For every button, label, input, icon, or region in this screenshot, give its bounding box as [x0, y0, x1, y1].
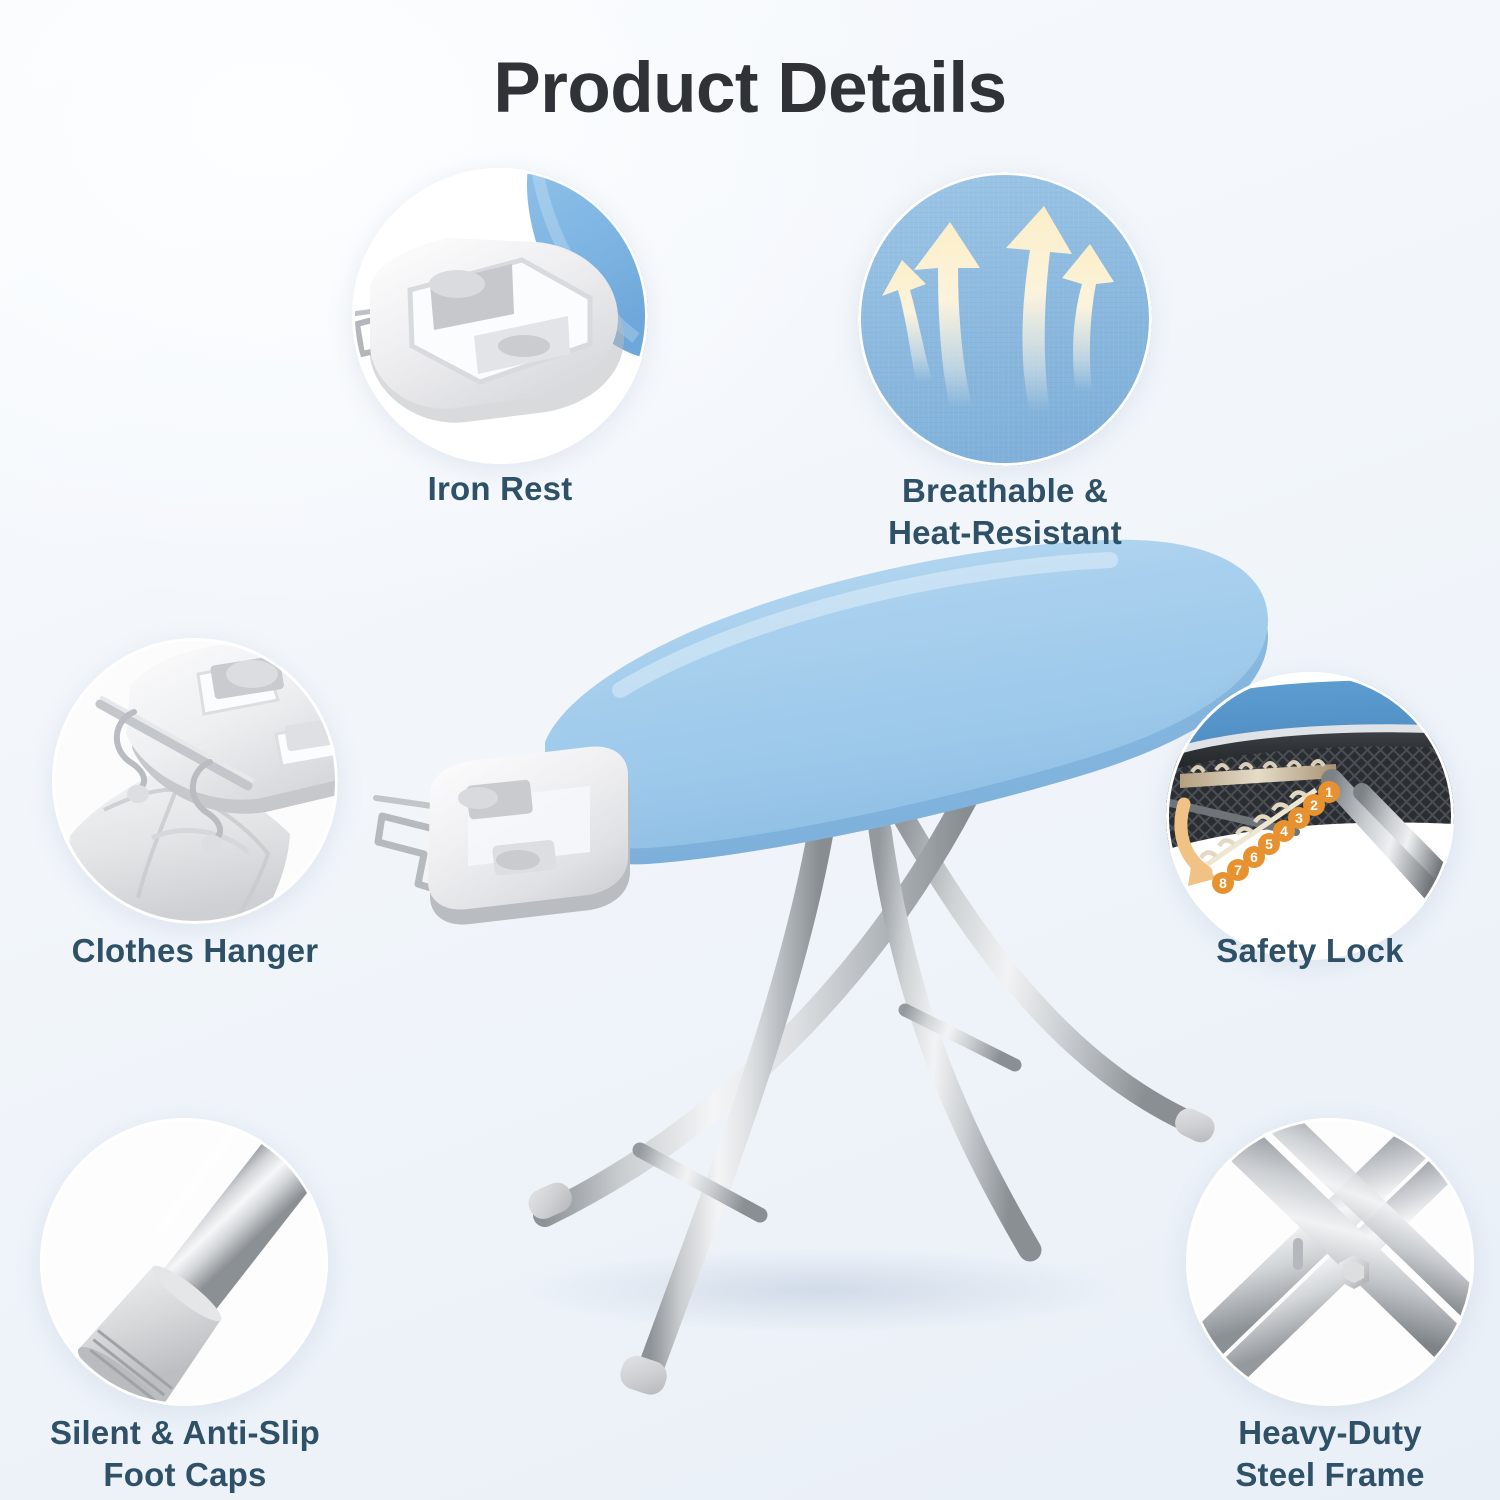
feature-label-steel-frame: Heavy-Duty Steel Frame [1160, 1412, 1500, 1496]
svg-text:2: 2 [1310, 797, 1318, 813]
feature-label-iron-rest: Iron Rest [330, 468, 670, 510]
feature-label-safety-lock: Safety Lock [1140, 930, 1480, 972]
feature-label-foot-caps: Silent & Anti-Slip Foot Caps [15, 1412, 355, 1496]
svg-text:1: 1 [1325, 784, 1333, 800]
svg-text:3: 3 [1295, 810, 1303, 826]
svg-text:6: 6 [1250, 849, 1258, 865]
feature-circle-clothes-hanger [52, 638, 338, 924]
feature-circle-foot-caps [40, 1118, 328, 1406]
feature-label-clothes-hanger: Clothes Hanger [25, 930, 365, 972]
svg-text:4: 4 [1280, 823, 1288, 839]
feature-circle-steel-frame [1186, 1118, 1474, 1406]
svg-text:5: 5 [1265, 836, 1273, 852]
feature-circle-safety-lock: 1 2 3 4 5 6 7 8 [1166, 672, 1454, 960]
svg-text:8: 8 [1219, 875, 1227, 891]
product-details-infographic: Product Details [0, 0, 1500, 1500]
feature-label-breathable-heat-resistant: Breathable & Heat-Resistant [835, 470, 1175, 554]
feature-circle-iron-rest [352, 168, 648, 464]
feature-circle-breathable-heat-resistant [858, 172, 1152, 466]
svg-text:7: 7 [1234, 862, 1242, 878]
